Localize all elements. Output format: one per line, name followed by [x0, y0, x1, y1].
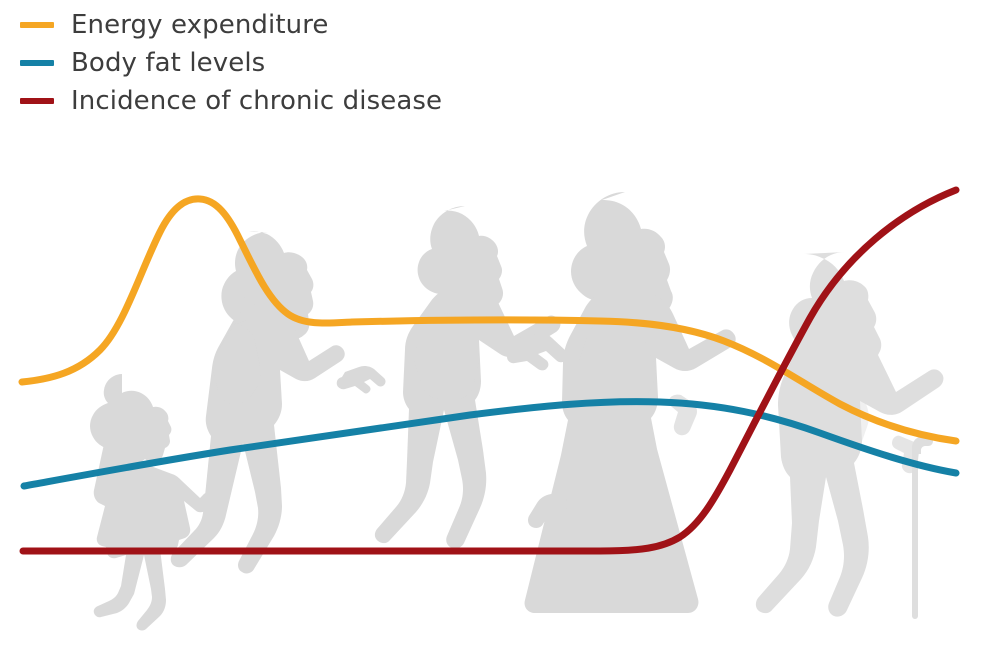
- life-course-health-chart: Energy expenditure Body fat levels Incid…: [0, 0, 990, 660]
- curve-energy-expenditure: [22, 199, 956, 441]
- curve-body-fat-levels: [24, 402, 956, 486]
- plot-area: [0, 0, 990, 660]
- curve-incidence-chronic-disease: [23, 190, 956, 551]
- curve-layer: [0, 0, 990, 660]
